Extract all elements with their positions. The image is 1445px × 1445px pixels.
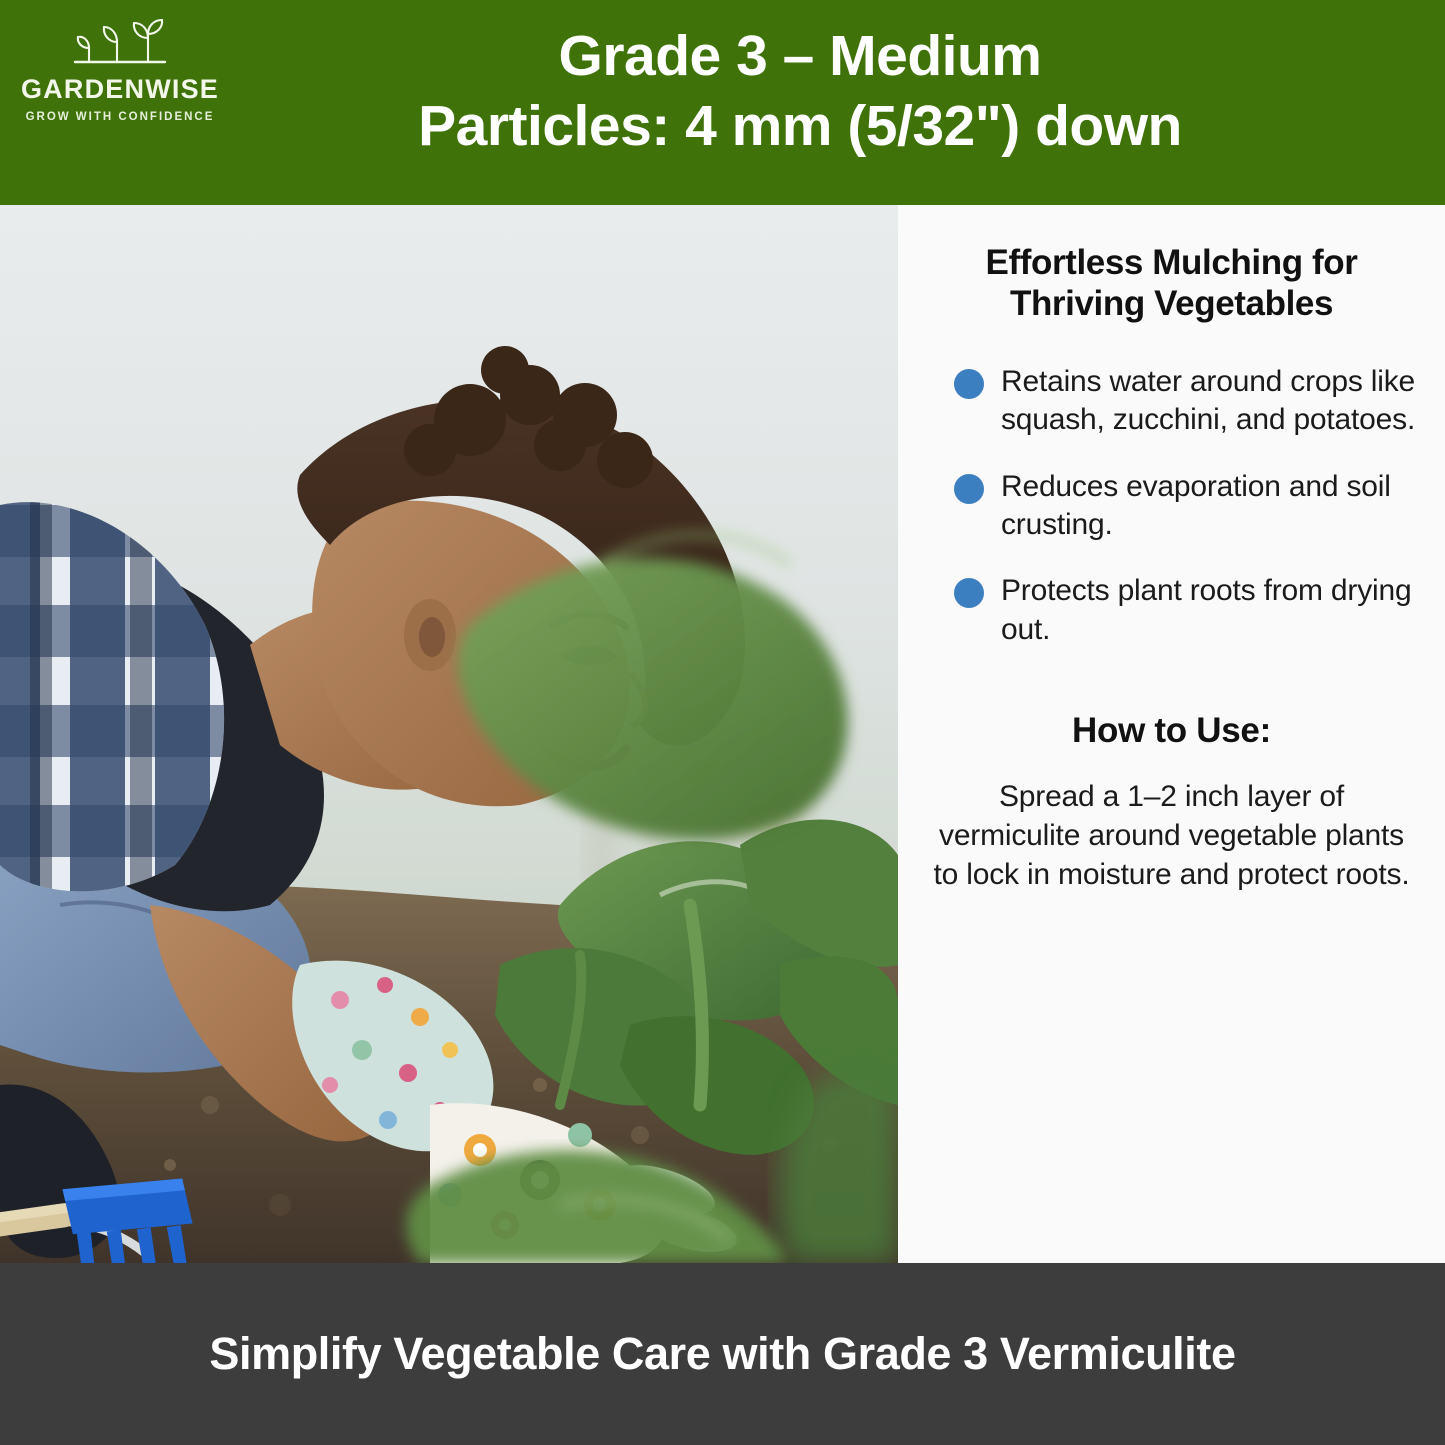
list-item: Retains water around crops like squash, … — [926, 363, 1417, 440]
info-panel: Effortless Mulching for Thriving Vegetab… — [898, 205, 1445, 1263]
how-to-use-body: Spread a 1–2 inch layer of vermiculite a… — [926, 777, 1417, 894]
panel-heading: Effortless Mulching for Thriving Vegetab… — [926, 243, 1417, 325]
bullet-dot-icon — [954, 369, 984, 399]
footer-banner: Simplify Vegetable Care with Grade 3 Ver… — [0, 1263, 1445, 1445]
list-item: Protects plant roots from drying out. — [926, 572, 1417, 649]
how-to-use-heading: How to Use: — [926, 711, 1417, 751]
bullet-text: Reduces evaporation and soil crusting. — [1001, 468, 1417, 545]
brand-name: GARDENWISE — [21, 76, 219, 103]
header-title-block: Grade 3 – Medium Particles: 4 mm (5/32")… — [250, 22, 1350, 161]
brand-logo: GARDENWISE GROW WITH CONFIDENCE — [10, 14, 230, 123]
bullet-dot-icon — [954, 474, 984, 504]
brand-tagline: GROW WITH CONFIDENCE — [26, 111, 215, 123]
infographic-page: GARDENWISE GROW WITH CONFIDENCE Grade 3 … — [0, 0, 1445, 1445]
lifestyle-photo — [0, 205, 898, 1263]
bullet-dot-icon — [954, 578, 984, 608]
header-title-line-2: Particles: 4 mm (5/32") down — [250, 92, 1350, 162]
header-title-line-1: Grade 3 – Medium — [250, 22, 1350, 92]
list-item: Reduces evaporation and soil crusting. — [926, 468, 1417, 545]
header-banner: GARDENWISE GROW WITH CONFIDENCE Grade 3 … — [0, 0, 1445, 205]
bullet-text: Retains water around crops like squash, … — [1001, 363, 1417, 440]
footer-tagline: Simplify Vegetable Care with Grade 3 Ver… — [89, 1326, 1355, 1382]
sprout-leaves-icon — [45, 14, 195, 74]
garden-scene-illustration — [0, 205, 898, 1263]
bullet-text: Protects plant roots from drying out. — [1001, 572, 1417, 649]
benefits-list: Retains water around crops like squash, … — [926, 363, 1417, 649]
